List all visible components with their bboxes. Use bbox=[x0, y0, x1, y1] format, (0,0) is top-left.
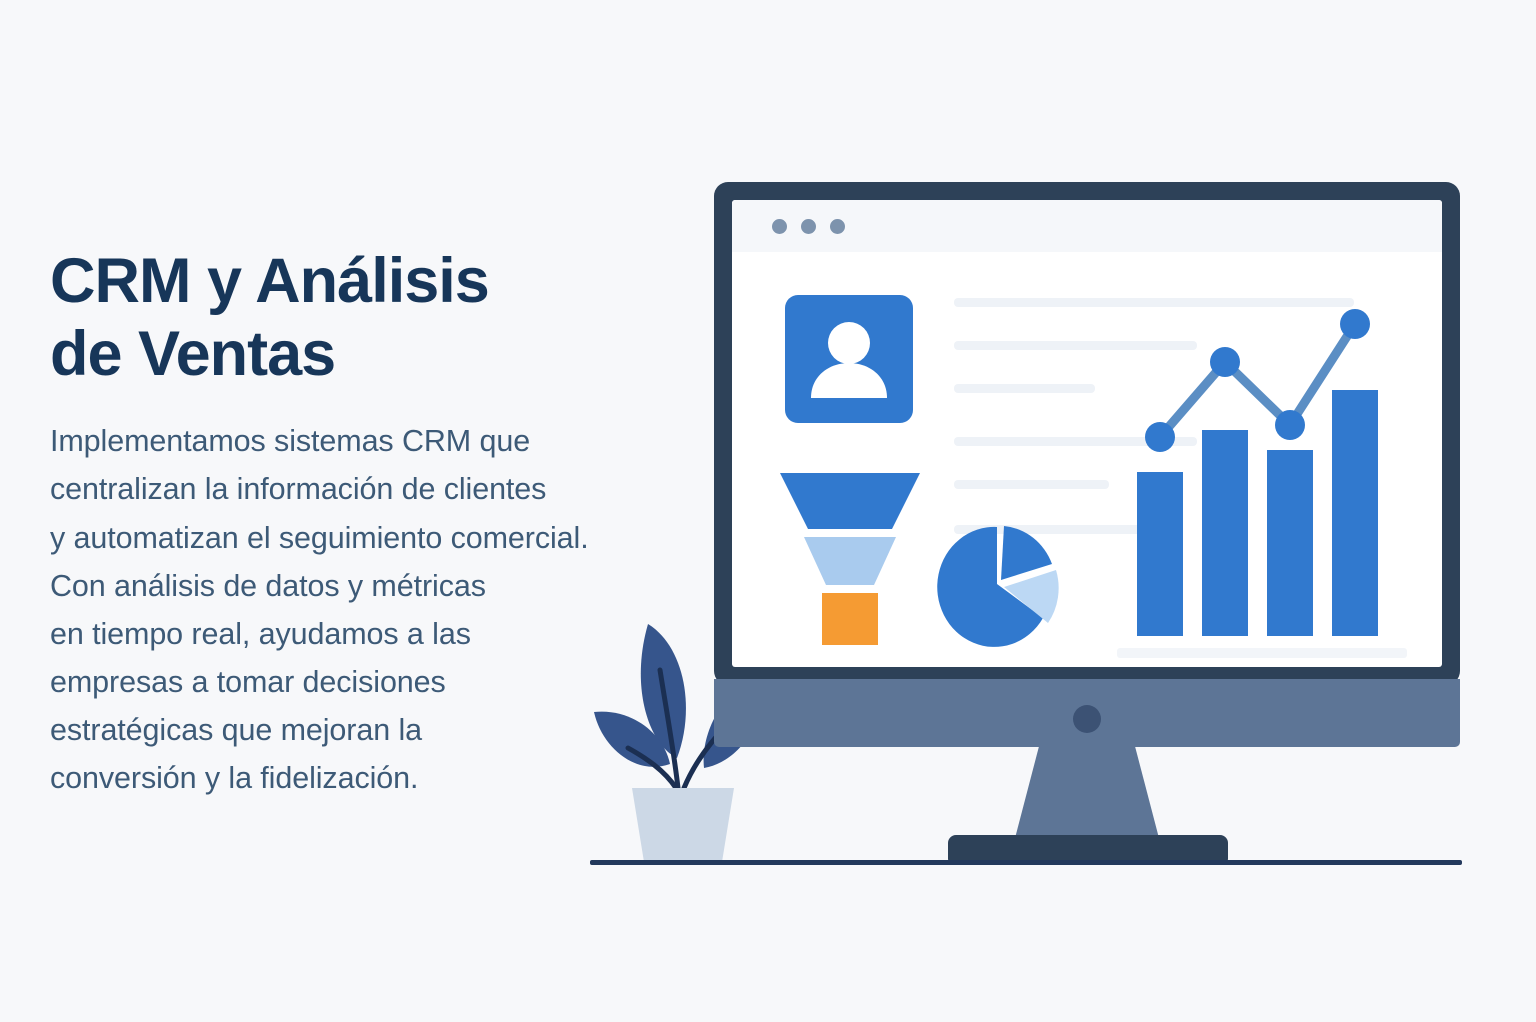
data-point bbox=[1275, 410, 1305, 440]
trend-line bbox=[1160, 324, 1355, 437]
monitor-stand-base bbox=[948, 835, 1228, 862]
bar bbox=[1137, 472, 1183, 636]
placeholder-line bbox=[954, 384, 1095, 393]
chart-baseline bbox=[1117, 648, 1407, 658]
dashboard-body bbox=[732, 252, 1442, 667]
page-title: CRM y Análisis de Ventas bbox=[50, 245, 730, 391]
window-titlebar bbox=[732, 200, 1442, 252]
bar bbox=[1267, 450, 1313, 636]
monitor-chin bbox=[714, 679, 1460, 747]
bar bbox=[1202, 430, 1248, 636]
sales-pie-chart bbox=[932, 524, 1067, 649]
illustration-canvas: CRM y Análisis de Ventas Implementamos s… bbox=[0, 0, 1536, 1022]
sales-bar-chart bbox=[1117, 302, 1407, 637]
placeholder-line bbox=[954, 480, 1109, 489]
window-dot-close-icon[interactable] bbox=[772, 219, 787, 234]
monitor-screen bbox=[714, 182, 1460, 685]
user-avatar-icon bbox=[785, 295, 913, 423]
data-point bbox=[1145, 422, 1175, 452]
data-point bbox=[1210, 347, 1240, 377]
user-avatar-card[interactable] bbox=[785, 295, 913, 423]
sales-funnel-icon bbox=[770, 467, 930, 647]
bar bbox=[1332, 390, 1378, 636]
window-dot-minimize-icon[interactable] bbox=[801, 219, 816, 234]
window-dot-maximize-icon[interactable] bbox=[830, 219, 845, 234]
screen-content bbox=[732, 200, 1442, 667]
data-point bbox=[1340, 309, 1370, 339]
monitor-stand-neck bbox=[1014, 747, 1160, 842]
power-button-icon[interactable] bbox=[1073, 705, 1101, 733]
desk-line bbox=[590, 860, 1462, 865]
